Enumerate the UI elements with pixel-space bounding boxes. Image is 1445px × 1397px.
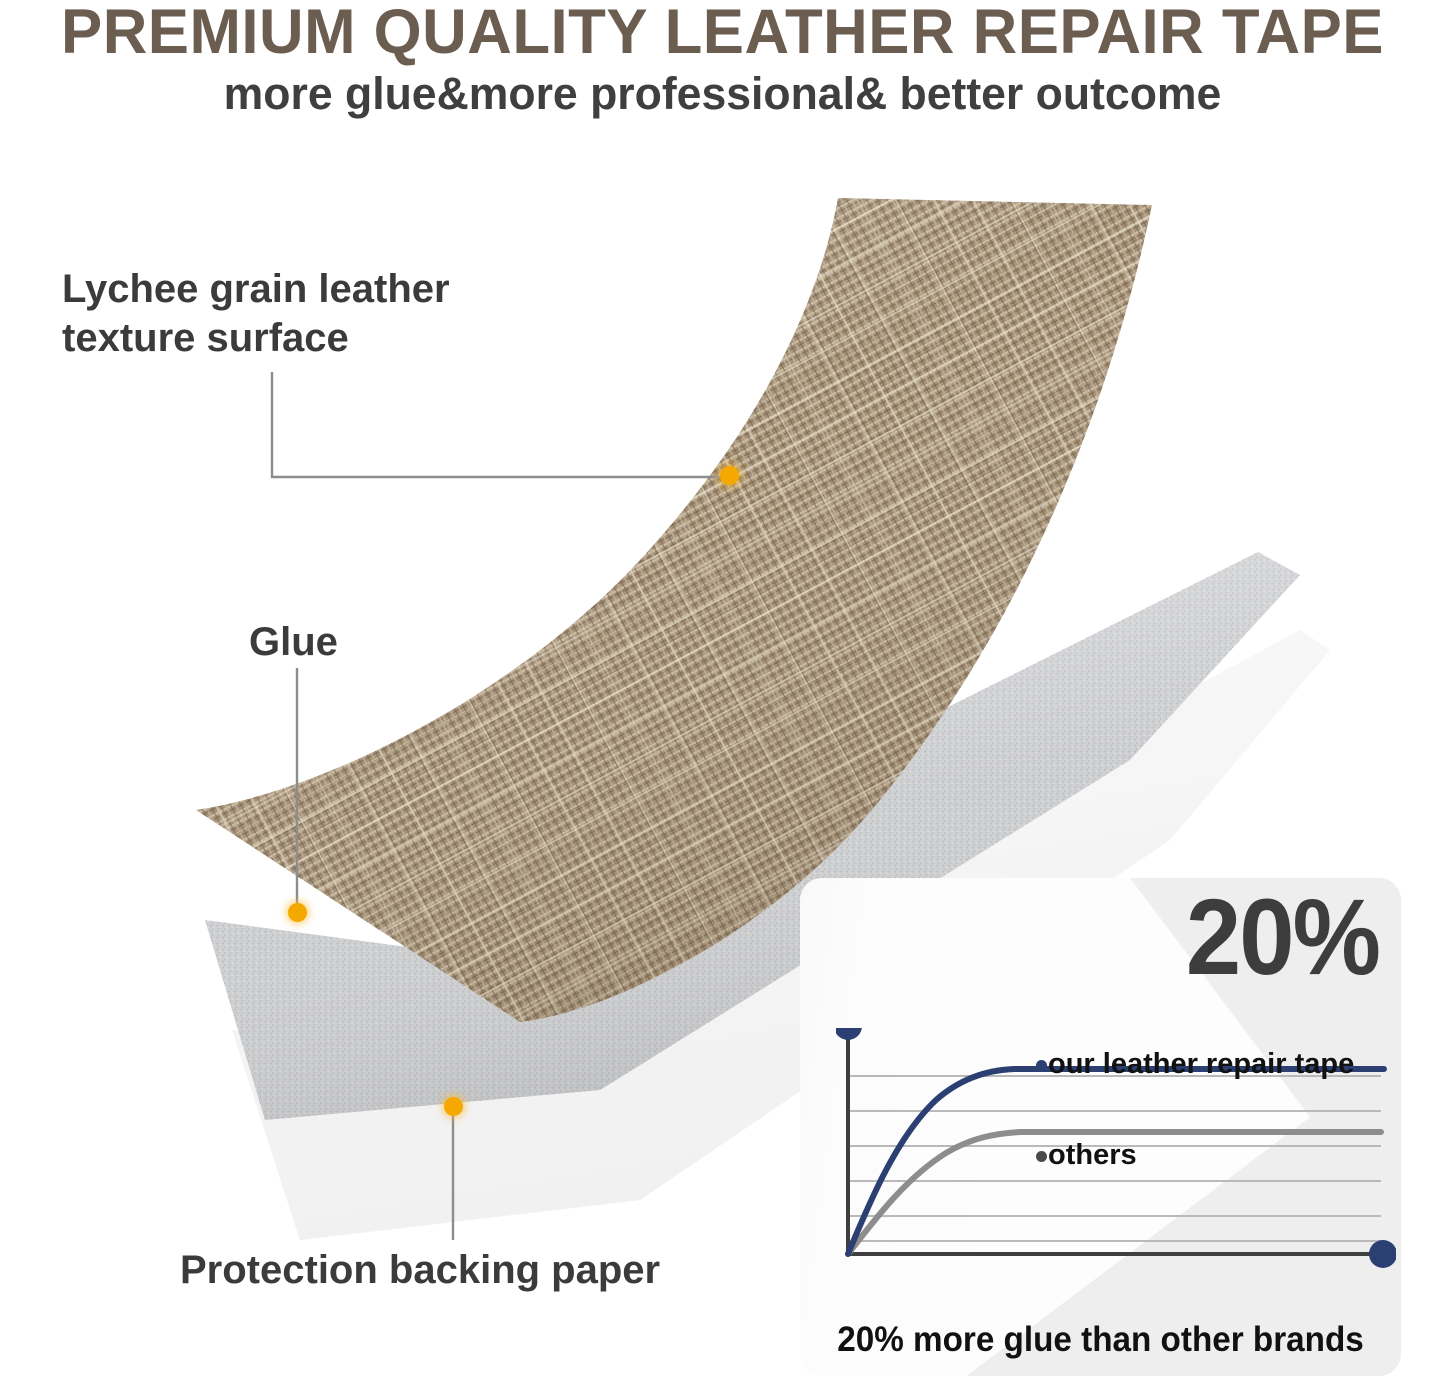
leader-line-lychee	[272, 372, 726, 477]
callout-label-protection-backing-paper: Protection backing paper	[180, 1246, 660, 1295]
marker-dot-lychee-grain-leather	[720, 466, 739, 485]
legend-dot-our-leather-repair-tape	[1036, 1060, 1047, 1071]
marker-dot-glue	[288, 903, 307, 922]
glue-comparison-panel: 20% 20% more	[800, 878, 1401, 1376]
legend-label-others: others	[1048, 1139, 1137, 1172]
percent-headline: 20%	[1186, 883, 1379, 991]
chart-x-axis-endpoint-marker	[1369, 1240, 1396, 1268]
chart-y-axis-endpoint-marker	[836, 1028, 862, 1040]
callout-label-lychee-grain-leather: Lychee grain leather texture surface	[62, 265, 450, 363]
page-title: PREMIUM QUALITY LEATHER REPAIR TAPE	[14, 0, 1430, 68]
product-infographic: PREMIUM QUALITY LEATHER REPAIR TAPE more…	[0, 0, 1445, 1397]
panel-caption: 20% more glue than other brands	[815, 1320, 1386, 1360]
callout-label-glue: Glue	[249, 618, 338, 667]
marker-dot-protection-backing-paper	[444, 1097, 463, 1116]
page-subtitle: more glue&more professional& better outc…	[7, 68, 1438, 120]
legend-dot-others	[1036, 1151, 1047, 1162]
legend-label-our-leather-repair-tape: our leather repair tape	[1048, 1048, 1354, 1081]
